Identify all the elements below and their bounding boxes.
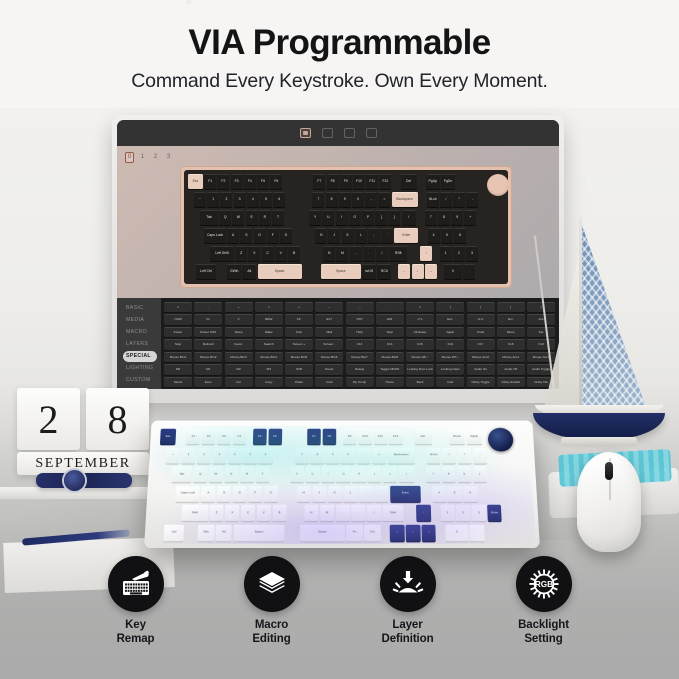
via-picker-key[interactable]: REW: [255, 314, 283, 324]
via-category-sidebar[interactable]: BASICMEDIAMACROLAYERSSPECIALLIGHTINGCUST…: [117, 298, 161, 389]
key-6[interactable]: 6: [454, 228, 466, 243]
key-a[interactable]: A: [201, 485, 216, 501]
key-alt[interactable]: Alt: [242, 264, 256, 279]
via-picker-key[interactable]: Mouse Btn8: [376, 352, 404, 362]
key-v[interactable]: V: [275, 246, 287, 261]
via-picker-key[interactable]: Mouse Acc0: [467, 352, 495, 362]
key-fn[interactable]: Fn: [346, 524, 362, 540]
via-picker-key[interactable]: Fwd: [436, 377, 464, 387]
key-[interactable]: ←: [390, 524, 404, 540]
via-picker-key[interactable]: M1: [194, 364, 222, 374]
key-s[interactable]: S: [240, 228, 252, 243]
key-c[interactable]: C: [241, 505, 256, 521]
key-7[interactable]: 7: [426, 466, 440, 482]
keyboard-tab-icon[interactable]: [300, 128, 311, 138]
key-backspace[interactable]: Backspace: [387, 447, 415, 463]
key-rsft[interactable]: RSft: [389, 246, 407, 261]
via-picker-key[interactable]: -: [194, 302, 222, 312]
via-picker-key[interactable]: M3: [255, 364, 283, 374]
via-picker-key[interactable]: Mouse Btn7: [346, 352, 374, 362]
via-layer-1[interactable]: 1: [138, 153, 147, 162]
key-enter[interactable]: Enter: [394, 228, 418, 243]
via-picker-key[interactable]: Home: [376, 377, 404, 387]
via-picker-key[interactable]: Copy: [255, 377, 283, 387]
key-9[interactable]: 9: [326, 447, 340, 463]
key-gwin[interactable]: GWin: [227, 264, 241, 279]
key-[interactable]: ;: [368, 228, 380, 243]
via-picker-key[interactable]: Debug: [346, 364, 374, 374]
key-0[interactable]: 0: [444, 264, 462, 279]
key-c[interactable]: C: [262, 246, 274, 261]
key-[interactable]: =: [378, 192, 390, 207]
key-3[interactable]: 3: [472, 505, 487, 521]
via-picker-key[interactable]: Menu: [497, 327, 525, 337]
key-[interactable]: ←: [398, 264, 410, 279]
key-[interactable]: .: [463, 264, 475, 279]
key-[interactable]: .: [351, 505, 365, 521]
via-sidebar-item-basic[interactable]: BASIC: [123, 303, 157, 314]
via-picker-key[interactable]: Mouse Btn3: [225, 352, 253, 362]
key-9[interactable]: 9: [457, 466, 472, 482]
key-home[interactable]: Home: [449, 429, 465, 444]
key-k[interactable]: K: [328, 485, 342, 501]
key-[interactable]: →: [425, 264, 437, 279]
key-l[interactable]: L: [355, 228, 367, 243]
via-picker-key[interactable]: F13: [346, 339, 374, 349]
via-picker-key[interactable]: Exec: [194, 377, 222, 387]
key-2[interactable]: 2: [453, 246, 465, 261]
via-picker-key[interactable]: {: [497, 302, 525, 312]
key-z[interactable]: Z: [209, 505, 224, 521]
via-picker-key[interactable]: Back: [406, 377, 434, 387]
key-f8[interactable]: F8: [322, 429, 336, 444]
via-picker-key[interactable]: n^L: [406, 314, 434, 324]
key-6[interactable]: 6: [273, 192, 285, 207]
via-picker-key[interactable]: F15: [406, 339, 434, 349]
keyboard-rotary-knob[interactable]: [487, 428, 513, 452]
key-enter[interactable]: Enter: [487, 505, 502, 521]
key-[interactable]: ~: [194, 192, 206, 207]
key-f6[interactable]: F6: [268, 429, 282, 444]
key-[interactable]: [: [368, 466, 382, 482]
key-w[interactable]: W: [232, 210, 244, 225]
key-g[interactable]: G: [280, 228, 292, 243]
via-picker-key[interactable]: (: [436, 302, 464, 312]
key-6[interactable]: 6: [258, 447, 272, 463]
key-y[interactable]: Y: [309, 210, 321, 225]
via-picker-key[interactable]: Mouse Acc1: [497, 352, 525, 362]
via-sidebar-item-special[interactable]: SPECIAL: [123, 351, 157, 362]
key-tab[interactable]: Tab: [171, 466, 192, 482]
via-picker-key[interactable]: Locking Num Lock: [406, 364, 434, 374]
via-picker-key[interactable]: Screen +: [285, 339, 313, 349]
key-w[interactable]: W: [209, 466, 224, 482]
key-7[interactable]: 7: [312, 192, 324, 207]
via-picker-key[interactable]: F14: [376, 339, 404, 349]
key-[interactable]: *: [457, 447, 471, 463]
key-1[interactable]: 1: [207, 192, 219, 207]
key-[interactable]: ]: [383, 466, 397, 482]
key-[interactable]: ]: [388, 210, 400, 225]
key-f9[interactable]: F9: [343, 429, 357, 444]
via-picker-key[interactable]: Power: [164, 327, 192, 337]
key-i[interactable]: I: [336, 210, 348, 225]
key-[interactable]: ↑: [420, 246, 432, 261]
key-[interactable]: -: [365, 192, 377, 207]
via-picker-key[interactable]: Mouse Wh ↓: [436, 352, 464, 362]
key-r[interactable]: R: [259, 210, 271, 225]
design-tab-icon[interactable]: [366, 128, 377, 138]
key-p[interactable]: P: [352, 466, 366, 482]
via-picker-key[interactable]: M2: [225, 364, 253, 374]
via-picker-key[interactable]: V: [225, 314, 253, 324]
key-esc[interactable]: Esc: [160, 429, 177, 444]
via-picker-key[interactable]: Clicky Enable: [497, 377, 525, 387]
key-d[interactable]: D: [232, 485, 247, 501]
via-picker-key[interactable]: F18: [497, 339, 525, 349]
key-m[interactable]: M: [336, 246, 348, 261]
key-f[interactable]: F: [248, 485, 262, 501]
via-picker-key[interactable]: F16: [436, 339, 464, 349]
via-picker-key[interactable]: Select: [164, 377, 192, 387]
key-u[interactable]: U: [305, 466, 319, 482]
key-[interactable]: ': [375, 485, 389, 501]
key-f6[interactable]: F6: [270, 174, 282, 189]
key-[interactable]: *: [453, 192, 465, 207]
settings-tab-icon[interactable]: [322, 128, 333, 138]
via-sidebar-item-custom[interactable]: CUSTOM: [123, 375, 157, 386]
via-picker-key[interactable]: FF: [285, 314, 313, 324]
key-f11[interactable]: F11: [373, 429, 387, 444]
key-[interactable]: =: [372, 447, 386, 463]
key-r[interactable]: R: [240, 466, 254, 482]
key-3[interactable]: 3: [466, 246, 478, 261]
key-[interactable]: -: [473, 447, 488, 463]
via-picker-key[interactable]: Esc`: [436, 314, 464, 324]
via-picker-key[interactable]: Stop: [376, 327, 404, 337]
key-4[interactable]: 4: [247, 192, 259, 207]
key-win[interactable]: Win: [198, 524, 215, 540]
via-picker-key[interactable]: Sleep: [225, 327, 253, 337]
via-picker-key[interactable]: Reset: [315, 364, 343, 374]
key-4[interactable]: 4: [428, 228, 440, 243]
key-q[interactable]: Q: [193, 466, 208, 482]
key-[interactable]: \: [398, 466, 414, 482]
key-[interactable]: ↓: [412, 264, 424, 279]
key-f2[interactable]: F2: [202, 429, 216, 444]
key-4[interactable]: 4: [432, 485, 447, 501]
key-left-shift[interactable]: Left Shift: [210, 246, 234, 261]
via-picker-key[interactable]: Favor.: [225, 339, 253, 349]
via-keyboard-preview[interactable]: EscF1F2F3F4F5F6F7F8F9F10F11F12DelPgUpPgD…: [180, 166, 512, 288]
key-t[interactable]: T: [272, 210, 284, 225]
key-[interactable]: ↓: [406, 524, 421, 540]
key-pgup[interactable]: PgUp: [466, 429, 482, 444]
via-sidebar-item-lighting[interactable]: LIGHTING: [123, 363, 157, 374]
via-picker-key[interactable]: Toggle NKRO: [376, 364, 404, 374]
via-picker-key[interactable]: ): [467, 302, 495, 312]
via-picker-key[interactable]: Wake: [255, 327, 283, 337]
key-y[interactable]: Y: [290, 466, 304, 482]
key-left-ctrl[interactable]: Left Ctrl: [196, 264, 216, 279]
via-picker-key[interactable]: Stop: [164, 339, 192, 349]
via-sidebar-item-macro[interactable]: MACRO: [123, 327, 157, 338]
via-picker-key[interactable]: Paste: [285, 377, 313, 387]
key-6[interactable]: 6: [463, 485, 478, 501]
via-sidebar-item-layers[interactable]: LAYERS: [123, 339, 157, 350]
key-[interactable]: /: [376, 246, 388, 261]
via-picker-key[interactable]: Mouse Btn1: [164, 352, 192, 362]
feature-layer-definition[interactable]: LayerDefinition: [365, 556, 451, 654]
via-picker-key[interactable]: Clicky Toggle: [467, 377, 495, 387]
key-f7[interactable]: F7: [313, 174, 325, 189]
key-f3[interactable]: F3: [217, 429, 231, 444]
via-picker-key[interactable]: F17: [467, 339, 495, 349]
key-f4[interactable]: F4: [232, 429, 246, 444]
via-picker-key[interactable]: E/R: [376, 314, 404, 324]
via-picker-key[interactable]: Fn: [194, 314, 222, 324]
via-picker-key[interactable]: Cut: [225, 377, 253, 387]
via-picker-key[interactable]: Mouse Btn2: [194, 352, 222, 362]
key-5[interactable]: 5: [441, 228, 453, 243]
via-picker-key[interactable]: Mouse Wh ↑: [406, 352, 434, 362]
via-picker-key[interactable]: Again: [436, 327, 464, 337]
key-space[interactable]: Space: [321, 264, 361, 279]
via-picker-key[interactable]: ×: [255, 302, 283, 312]
key-2[interactable]: 2: [197, 447, 212, 463]
key-f[interactable]: F: [267, 228, 279, 243]
key-f10[interactable]: F10: [358, 429, 372, 444]
key-f2[interactable]: F2: [217, 174, 229, 189]
key-0[interactable]: 0: [352, 192, 364, 207]
key-4[interactable]: 4: [228, 447, 242, 463]
key-f1[interactable]: F1: [186, 429, 201, 444]
key-z[interactable]: Z: [235, 246, 247, 261]
key-u[interactable]: U: [322, 210, 334, 225]
key-nlck[interactable]: NLck: [427, 192, 439, 207]
via-picker-key[interactable]: EJT: [315, 314, 343, 324]
key-ctrl[interactable]: Ctrl: [364, 524, 380, 540]
via-picker-key[interactable]: +: [285, 302, 313, 312]
key-[interactable]: ;: [359, 485, 373, 501]
key-0[interactable]: 0: [341, 447, 355, 463]
key-[interactable]: +: [472, 466, 487, 482]
key-o[interactable]: O: [337, 466, 351, 482]
key-5[interactable]: 5: [447, 485, 462, 501]
via-layer-3[interactable]: 3: [164, 153, 173, 162]
via-rotary-knob[interactable]: [487, 174, 508, 196]
key-s[interactable]: S: [217, 485, 232, 501]
via-sidebar-item-media[interactable]: MEDIA: [123, 315, 157, 326]
key-2[interactable]: 2: [220, 192, 232, 207]
via-picker-key[interactable]: Shift: [285, 364, 313, 374]
key-1[interactable]: 1: [440, 505, 455, 521]
key-h[interactable]: H: [315, 228, 327, 243]
key-p[interactable]: P: [362, 210, 374, 225]
via-picker-key[interactable]: Power OSX: [194, 327, 222, 337]
key-tab[interactable]: Tab: [200, 210, 218, 225]
key-rctl[interactable]: RCtl: [377, 264, 391, 279]
via-picker-key[interactable]: =: [406, 302, 434, 312]
key-space[interactable]: Space: [233, 524, 284, 540]
key-g[interactable]: G: [264, 485, 278, 501]
via-picker-key[interactable]: Audio On: [467, 364, 495, 374]
via-picker-key[interactable]: ÷: [225, 302, 253, 312]
key-[interactable]: /: [367, 505, 381, 521]
key-2[interactable]: 2: [456, 505, 471, 521]
via-picker-key[interactable]: STP: [346, 314, 374, 324]
key-x[interactable]: X: [248, 246, 260, 261]
via-picker-key[interactable]: Search: [255, 339, 283, 349]
via-picker-key[interactable]: Help: [346, 327, 374, 337]
key-[interactable]: .: [469, 524, 484, 540]
via-picker-key[interactable]: ←: [315, 302, 343, 312]
key-ctrl[interactable]: Ctrl: [163, 524, 184, 540]
key-f4[interactable]: F4: [244, 174, 256, 189]
key-f8[interactable]: F8: [327, 174, 339, 189]
key-[interactable]: -: [466, 192, 478, 207]
via-picker-key[interactable]: Mouse Btn5: [285, 352, 313, 362]
key-[interactable]: ↑: [416, 505, 431, 521]
key-v[interactable]: V: [256, 505, 271, 521]
key-[interactable]: ,: [350, 246, 362, 261]
via-layer-selector[interactable]: 0123: [125, 152, 551, 163]
key-8[interactable]: 8: [438, 210, 450, 225]
key-[interactable]: /: [440, 192, 452, 207]
key-shift[interactable]: Shift: [181, 505, 208, 521]
key-h[interactable]: H: [296, 485, 310, 501]
key-del[interactable]: Del: [401, 174, 417, 189]
via-picker-key[interactable]: Screen -: [315, 339, 343, 349]
key-e[interactable]: E: [246, 210, 258, 225]
key-9[interactable]: 9: [451, 210, 463, 225]
key-k[interactable]: K: [342, 228, 354, 243]
key-n[interactable]: N: [304, 505, 318, 521]
key-f7[interactable]: F7: [307, 429, 321, 444]
key-f5[interactable]: F5: [253, 429, 267, 444]
key-j[interactable]: J: [312, 485, 326, 501]
key-[interactable]: ': [381, 228, 393, 243]
key-i[interactable]: I: [321, 466, 335, 482]
key-[interactable]: +: [464, 210, 476, 225]
key-7[interactable]: 7: [295, 447, 309, 463]
via-picker-key[interactable]: Mail: [315, 327, 343, 337]
key-t[interactable]: T: [255, 466, 269, 482]
key-j[interactable]: J: [328, 228, 340, 243]
key-l[interactable]: L: [343, 485, 357, 501]
key-[interactable]: ,: [336, 505, 350, 521]
via-picker-key[interactable]: Mouse Btn6: [315, 352, 343, 362]
key-o[interactable]: O: [349, 210, 361, 225]
key-f12[interactable]: F12: [389, 429, 403, 444]
key-1[interactable]: 1: [440, 246, 452, 261]
via-picker-key[interactable]: Refresh: [194, 339, 222, 349]
via-picker-key[interactable]: Alt Erase: [406, 327, 434, 337]
key-5[interactable]: 5: [243, 447, 257, 463]
key-b[interactable]: B: [288, 246, 300, 261]
key-enter[interactable]: Enter: [390, 485, 420, 501]
key-caps-lock[interactable]: Caps Lock: [175, 485, 200, 501]
via-picker-key[interactable]: My Comp: [346, 377, 374, 387]
key-test-tab-icon[interactable]: [344, 128, 355, 138]
key-f9[interactable]: F9: [340, 174, 352, 189]
via-picker-key[interactable]: Undo: [467, 327, 495, 337]
via-picker-key[interactable]: Audio Off: [497, 364, 525, 374]
key-b[interactable]: B: [272, 505, 286, 521]
key-f3[interactable]: F3: [231, 174, 243, 189]
key-space[interactable]: Space: [300, 524, 345, 540]
via-picker-key[interactable]: M0: [164, 364, 192, 374]
key-f11[interactable]: F11: [366, 174, 378, 189]
key-[interactable]: -: [357, 447, 371, 463]
key-[interactable]: .: [363, 246, 375, 261]
key-0[interactable]: 0: [445, 524, 468, 540]
via-picker-key[interactable]: Mouse Btn4: [255, 352, 283, 362]
key-x[interactable]: X: [225, 505, 240, 521]
key-8[interactable]: 8: [310, 447, 324, 463]
via-picker-key[interactable]: Calc: [285, 327, 313, 337]
via-layer-2[interactable]: 2: [151, 153, 160, 162]
key-5[interactable]: 5: [260, 192, 272, 207]
via-picker-key[interactable]: Locking Caps: [436, 364, 464, 374]
key-caps-lock[interactable]: Caps Lock: [204, 228, 226, 243]
key-d[interactable]: D: [254, 228, 266, 243]
key-a[interactable]: A: [227, 228, 239, 243]
key-e[interactable]: E: [224, 466, 238, 482]
key-[interactable]: →: [422, 524, 437, 540]
via-picker-key[interactable]: =: [164, 302, 192, 312]
key-pgdn[interactable]: PgDn: [441, 174, 455, 189]
key-n[interactable]: N: [323, 246, 335, 261]
key-[interactable]: ~: [166, 447, 181, 463]
key-backspace[interactable]: Backspace: [392, 192, 418, 207]
key-7[interactable]: 7: [425, 210, 437, 225]
key-1[interactable]: 1: [181, 447, 196, 463]
via-picker-key[interactable]: Find: [315, 377, 343, 387]
key-[interactable]: /: [442, 447, 456, 463]
key-alt[interactable]: Alt: [215, 524, 232, 540]
physical-keyboard[interactable]: EscF1F2F3F4F5F6F7F8F9F10F11F12DelHomePgU…: [144, 421, 540, 548]
key-f1[interactable]: F1: [204, 174, 216, 189]
key-del[interactable]: Del: [414, 429, 432, 444]
via-key-picker-grid[interactable]: =-÷×+←→,=(){}NUMFnVREWFFEJTSTPE/Rn^LEsc`…: [161, 298, 559, 389]
via-picker-key[interactable]: Ex>: [497, 314, 525, 324]
key-9[interactable]: 9: [339, 192, 351, 207]
key-8[interactable]: 8: [326, 192, 338, 207]
key-[interactable]: \: [402, 210, 416, 225]
key-f5[interactable]: F5: [257, 174, 269, 189]
key-nmlk[interactable]: NmLk: [427, 447, 441, 463]
key-8[interactable]: 8: [441, 466, 455, 482]
via-layer-0[interactable]: 0: [125, 152, 134, 163]
key-q[interactable]: Q: [219, 210, 231, 225]
key-esc[interactable]: Esc: [188, 174, 203, 189]
key-[interactable]: [: [375, 210, 387, 225]
key-shift[interactable]: Shift: [383, 505, 403, 521]
key-m[interactable]: M: [320, 505, 334, 521]
key-f12[interactable]: F12: [379, 174, 391, 189]
key-f10[interactable]: F10: [353, 174, 365, 189]
feature-backlight-setting[interactable]: RGBBacklightSetting: [501, 556, 587, 654]
key-3[interactable]: 3: [234, 192, 246, 207]
key-nvus[interactable]: nvUS: [362, 264, 376, 279]
feature-macro-editing[interactable]: MacroEditing: [229, 556, 315, 654]
via-picker-key[interactable]: →: [346, 302, 374, 312]
key-space[interactable]: Space: [258, 264, 302, 279]
via-picker-key[interactable]: ct-C: [467, 314, 495, 324]
feature-key-remap[interactable]: KeyRemap: [93, 556, 179, 654]
via-picker-key[interactable]: NUM: [164, 314, 192, 324]
